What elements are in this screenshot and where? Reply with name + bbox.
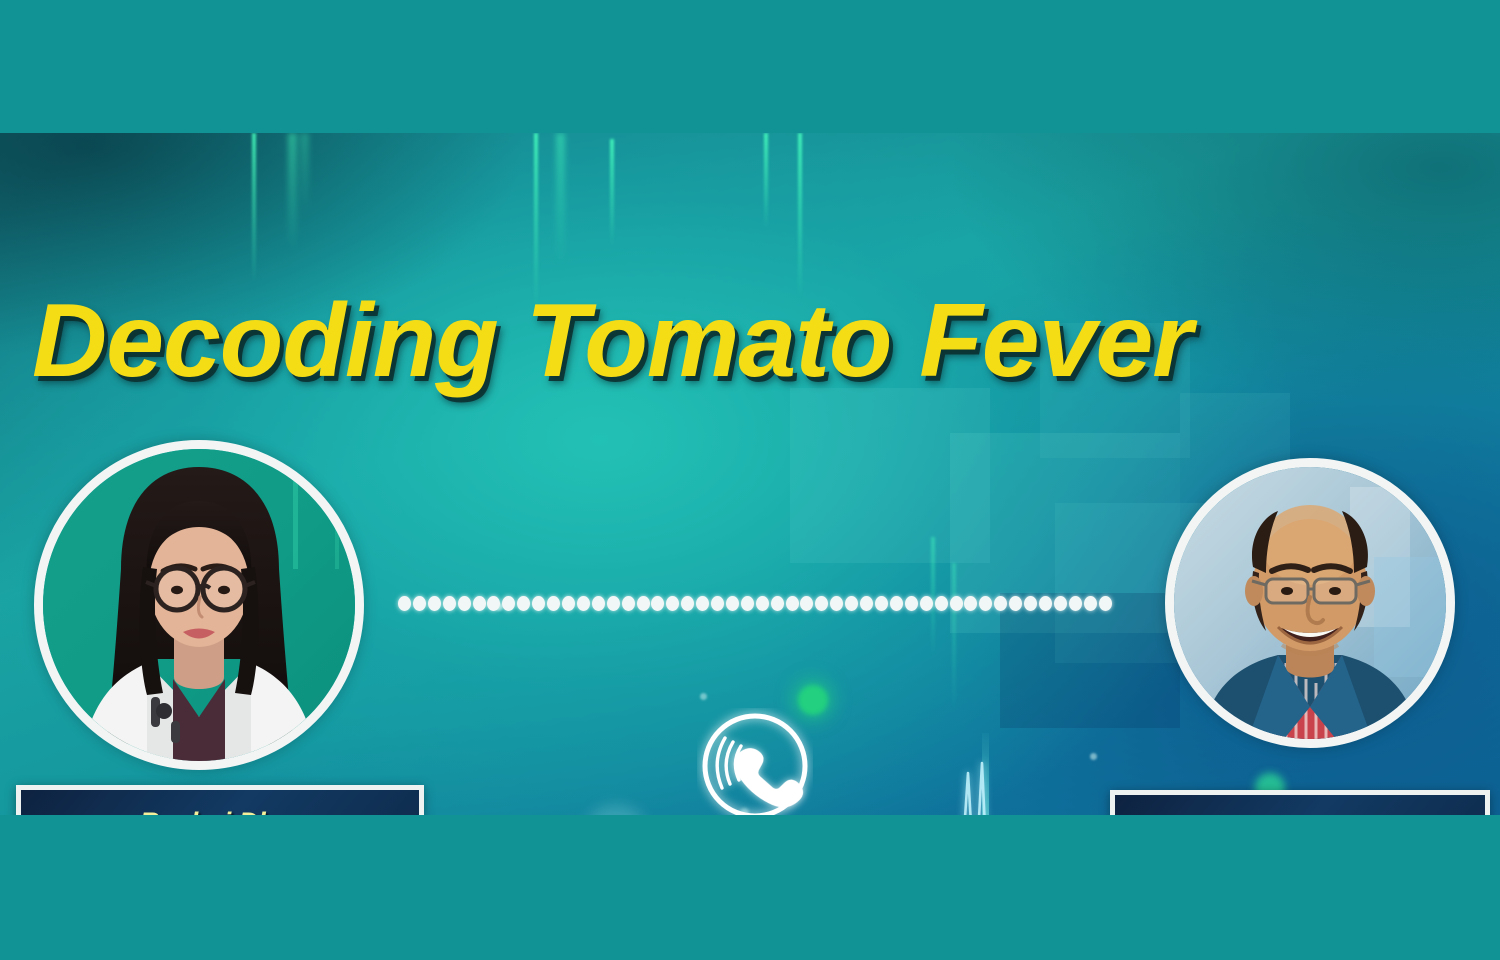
connector-dot — [487, 596, 500, 611]
bg-drip-3 — [534, 133, 538, 308]
connector-dot — [592, 596, 605, 611]
bg-drip-6 — [764, 133, 768, 229]
avatar-roshni-dhar — [34, 440, 364, 770]
connector-dot — [800, 596, 813, 611]
bg-drip-7 — [798, 133, 802, 298]
connector-dot — [979, 596, 992, 611]
connector-dot — [577, 596, 590, 611]
connector-dot — [756, 596, 769, 611]
connector-dot — [562, 596, 575, 611]
connector-dot — [637, 596, 650, 611]
connector-dot — [741, 596, 754, 611]
bg-drip-5 — [610, 139, 614, 247]
connector-dot — [935, 596, 948, 611]
connector-dot — [413, 596, 426, 611]
avatar-right-photo — [1174, 467, 1446, 739]
bokeh-12 — [700, 693, 707, 700]
avatar-rajeev-jayadevan — [1165, 458, 1455, 748]
connector-dot — [994, 596, 1007, 611]
connector-dot — [428, 596, 441, 611]
connector-dot — [860, 596, 873, 611]
connector-dot — [1009, 596, 1022, 611]
connector-dot — [1069, 596, 1082, 611]
connector-dot — [1039, 596, 1052, 611]
bg-drip-10 — [952, 563, 956, 713]
nameplate-right: Dr Rajeev Jayadevan Co-Chairman of IMA's… — [1110, 790, 1490, 815]
avatar-left-photo — [43, 449, 355, 761]
connector-dot — [458, 596, 471, 611]
connector-dot — [815, 596, 828, 611]
bg-drip-2 — [288, 133, 297, 251]
connector-dot — [726, 596, 739, 611]
connector-dot — [532, 596, 545, 611]
connector-dot — [622, 596, 635, 611]
page-title: Decoding Tomato Fever — [32, 285, 1472, 397]
connector-dot — [890, 596, 903, 611]
ringing-phone-icon[interactable] — [697, 708, 813, 815]
connector-dot — [786, 596, 799, 611]
video-stage: Decoding Tomato Fever — [0, 133, 1500, 815]
connector-dot — [845, 596, 858, 611]
connector-dot — [1054, 596, 1067, 611]
video-thumbnail-frame: Decoding Tomato Fever — [0, 0, 1500, 960]
connector-dot — [920, 596, 933, 611]
connector-dot — [473, 596, 486, 611]
nameplate-left: Roshni Dhar Sr. Correpondent Medical Dia… — [16, 785, 424, 815]
connector-dot — [443, 596, 456, 611]
connector-dot — [547, 596, 560, 611]
bg-drip-8 — [300, 133, 309, 213]
connector-dot — [964, 596, 977, 611]
connector-dot — [830, 596, 843, 611]
connector-dot — [651, 596, 664, 611]
connector-dot — [607, 596, 620, 611]
connector-dot — [875, 596, 888, 611]
connector-dot — [1024, 596, 1037, 611]
connector-dot — [950, 596, 963, 611]
connector-dot — [711, 596, 724, 611]
connector-dot — [1084, 596, 1097, 611]
connector-dot — [771, 596, 784, 611]
dotted-connector — [398, 595, 1112, 611]
connector-dot — [905, 596, 918, 611]
bg-rect-6 — [1000, 593, 1180, 728]
bg-rect-1 — [790, 388, 990, 563]
connector-dot — [502, 596, 515, 611]
connector-dot — [666, 596, 679, 611]
connector-dot — [1099, 596, 1112, 611]
connector-dot — [696, 596, 709, 611]
nameplate-left-name: Roshni Dhar — [140, 805, 301, 815]
bg-drip-4 — [556, 133, 565, 265]
bg-drip-1 — [252, 133, 256, 283]
bokeh-4 — [586, 805, 646, 815]
bokeh-13 — [1090, 753, 1097, 760]
connector-dot — [681, 596, 694, 611]
connector-dot — [517, 596, 530, 611]
connector-dot — [398, 596, 411, 611]
